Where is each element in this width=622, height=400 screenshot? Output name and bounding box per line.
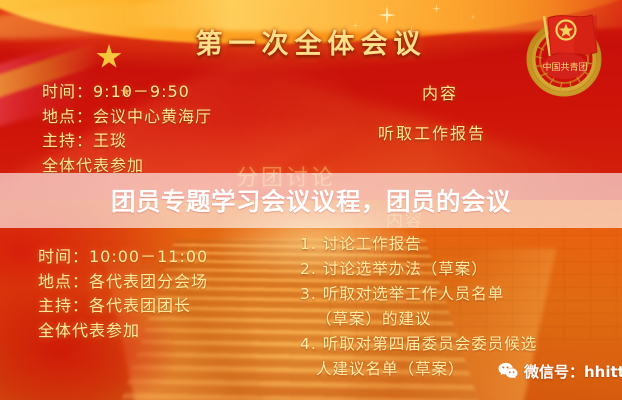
agenda-item: 1. 讨论工作报告 (300, 232, 622, 257)
wechat-icon (497, 360, 519, 382)
agenda-item-continuation: （草案）的建议 (300, 307, 622, 332)
session-one-content-item: 听取工作报告 (378, 120, 486, 144)
session-two-place: 地点：各代表团分会场 (38, 270, 208, 295)
session-two-host: 主持：各代表团团长 (38, 294, 208, 319)
session-two-attendance: 全体代表参加 (38, 319, 208, 344)
session-one-time: 时间：9:10－9:50 (42, 80, 212, 105)
overlay-title-band: 团员专题学习会议议程，团员的会议 (0, 173, 622, 228)
session-two-time: 时间：10:00－11:00 (38, 245, 208, 270)
session-one-content-header: 内容 (422, 80, 458, 104)
session-one-place: 地点：会议中心黄海厅 (42, 105, 212, 130)
session-one-host: 主持：王琰 (42, 129, 212, 154)
slide-canvas: 中国共青团 第一次全体会议 时间：9:10－9:50 地点：会议中心黄海厅 主持… (0, 0, 622, 400)
agenda-item: 4. 听取对第四届委员会委员候选 (300, 332, 622, 357)
wechat-watermark: 微信号：hhittw (497, 358, 622, 384)
agenda-item: 3. 听取对选举工作人员名单 (300, 282, 622, 307)
session-one-info: 时间：9:10－9:50 地点：会议中心黄海厅 主持：王琰 全体代表参加 (42, 80, 212, 178)
overlay-headline: 团员专题学习会议议程，团员的会议 (111, 183, 511, 218)
agenda-item: 2. 讨论选举办法（草案） (300, 257, 622, 282)
slide-title: 第一次全体会议 (0, 22, 622, 61)
watermark-text: 微信号：hhittw (524, 361, 622, 382)
session-two-info: 时间：10:00－11:00 地点：各代表团分会场 主持：各代表团团长 全体代表… (38, 245, 208, 343)
svg-text:中国共青团: 中国共青团 (542, 61, 587, 73)
